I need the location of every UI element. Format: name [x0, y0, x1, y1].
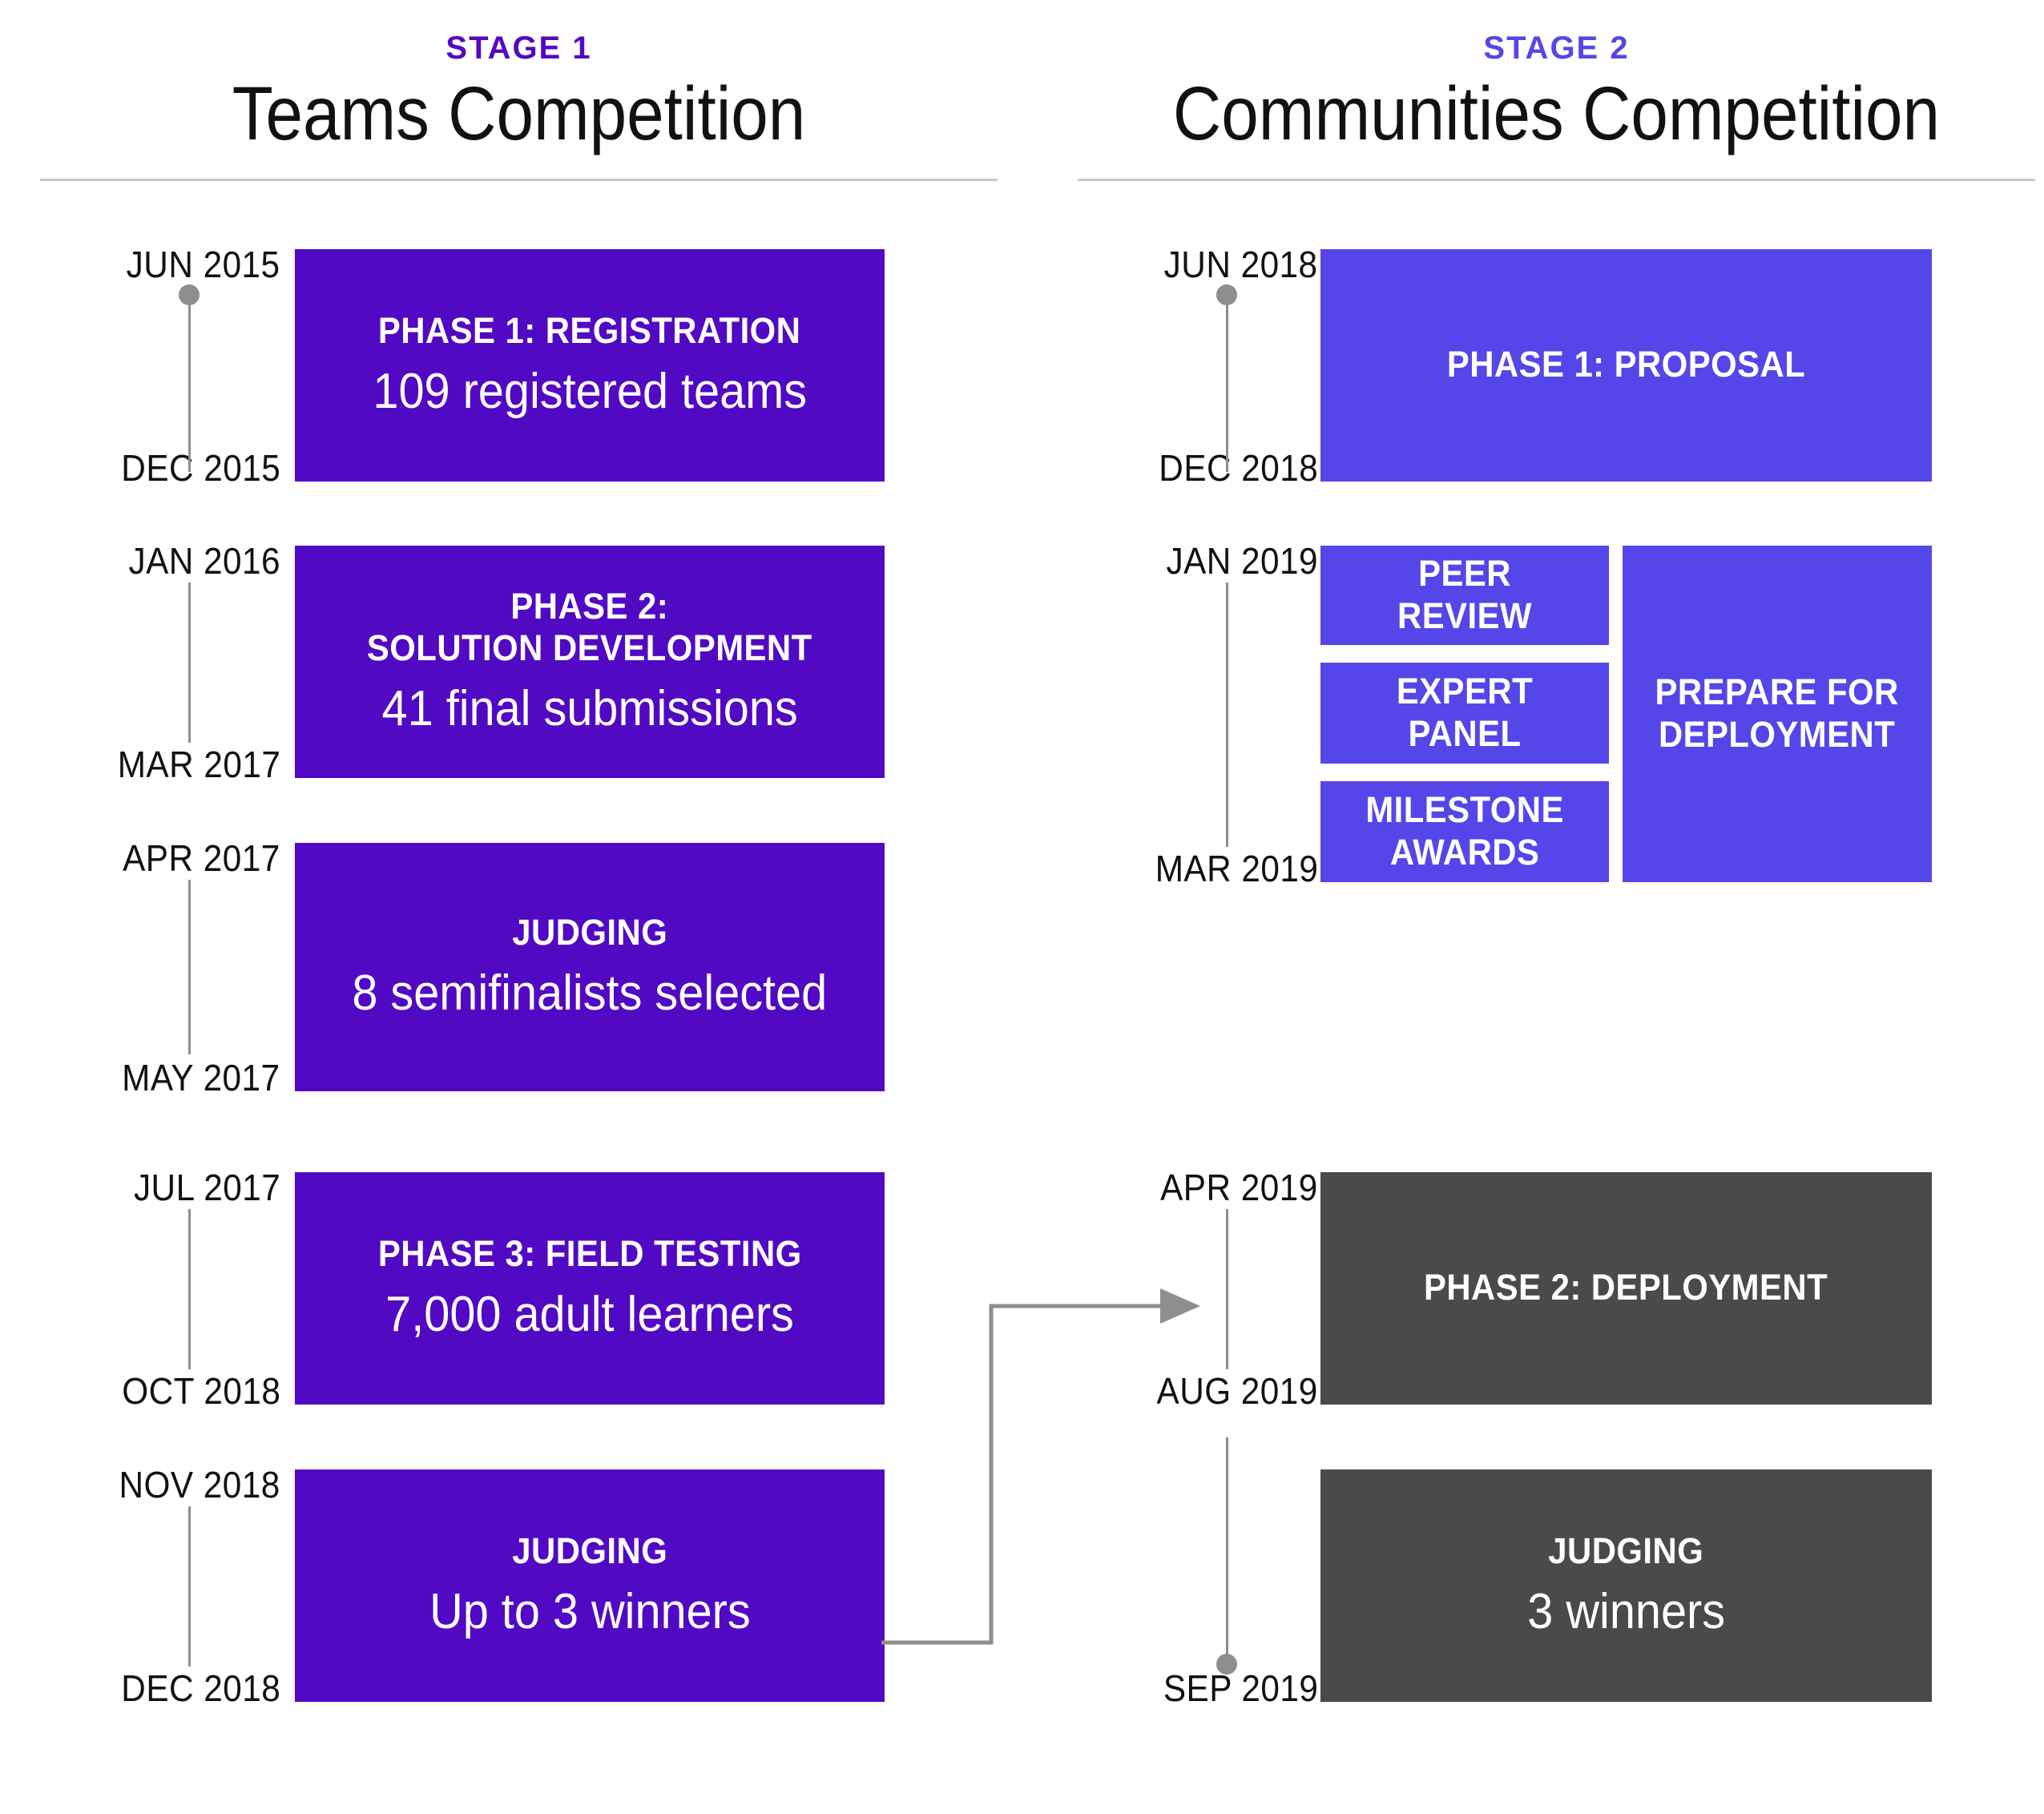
phase-box-title: PHASE 1: PROPOSAL — [1447, 344, 1805, 385]
timeline-line — [188, 880, 191, 1054]
phase-box-subtitle: 109 registered teams — [373, 363, 807, 420]
phase-box-title: JUDGING — [1549, 1530, 1704, 1572]
phase-box[interactable]: PHASE 1: REGISTRATION 109 registered tea… — [295, 249, 885, 482]
timeline-line — [188, 300, 191, 472]
timeline-dot — [1216, 1654, 1237, 1675]
date-gutter: JAN 2016 MAR 2017 — [40, 546, 280, 778]
phase-box-title: PHASE 1: REGISTRATION — [378, 310, 801, 352]
sub-phase-box[interactable]: PREPARE FOR DEPLOYMENT — [1623, 546, 1932, 882]
phase-box[interactable]: JUDGING 8 semifinalists selected — [295, 843, 885, 1091]
end-date-label: MAY 2017 — [123, 1056, 280, 1099]
start-date-label: JUN 2015 — [127, 243, 280, 286]
start-date-label: APR 2017 — [123, 836, 280, 880]
end-date-label: OCT 2018 — [122, 1369, 280, 1413]
phase-box[interactable]: PHASE 2: DEPLOYMENT — [1320, 1172, 1932, 1405]
timeline-row: JUN 2015 DEC 2015 PHASE 1: REGISTRATION … — [40, 249, 998, 482]
start-date-label: JUL 2017 — [134, 1166, 280, 1209]
sub-phase-box-title: EXPERT PANEL — [1350, 671, 1579, 754]
phase-box[interactable]: PHASE 1: PROPOSAL — [1320, 249, 1932, 482]
timeline-line — [1226, 1209, 1228, 1369]
sub-phase-box[interactable]: MILESTONE AWARDS — [1320, 781, 1609, 882]
date-gutter: SEP 2019 — [1078, 1469, 1318, 1702]
phase-box-subtitle: Up to 3 winners — [429, 1583, 751, 1640]
timeline-line — [188, 1506, 191, 1667]
timeline-line — [1226, 300, 1228, 472]
phase-box-subtitle: 7,000 adult learners — [385, 1286, 794, 1343]
end-date-label: DEC 2015 — [121, 446, 280, 490]
timeline-row: JAN 2016 MAR 2017 PHASE 2: SOLUTION DEVE… — [40, 546, 998, 778]
timeline-row: JUN 2018 DEC 2018 PHASE 1: PROPOSAL — [1078, 249, 2035, 482]
stage-1-divider — [40, 179, 998, 181]
phase-box[interactable]: PHASE 3: FIELD TESTING 7,000 adult learn… — [295, 1172, 885, 1405]
date-gutter: JUN 2018 DEC 2018 — [1078, 249, 1318, 482]
start-date-label: APR 2019 — [1160, 1166, 1318, 1209]
phase-box-subtitle: 8 semifinalists selected — [353, 965, 828, 1022]
sub-phase-box[interactable]: EXPERT PANEL — [1320, 663, 1609, 764]
timeline-line — [188, 1209, 191, 1369]
start-date-label: JAN 2019 — [1166, 539, 1318, 582]
end-date-label: AUG 2019 — [1157, 1369, 1318, 1413]
end-date-label: SEP 2019 — [1163, 1667, 1318, 1710]
start-date-label: JAN 2016 — [128, 539, 280, 582]
timeline-line — [1226, 1437, 1228, 1662]
end-date-label: MAR 2017 — [117, 743, 280, 786]
stage-2-divider — [1078, 179, 2035, 181]
sub-phase-box-title: MILESTONE AWARDS — [1365, 789, 1564, 873]
date-gutter: APR 2017 MAY 2017 — [40, 843, 280, 1091]
phase-box-subtitle: 41 final submissions — [381, 680, 797, 737]
timeline-line — [188, 582, 191, 743]
phase-box-title: JUDGING — [512, 1530, 667, 1572]
timeline-row-split: JAN 2019 MAR 2019 PEER REVIEW EXPERT PAN… — [1078, 546, 2035, 882]
phase-box[interactable]: JUDGING 3 winners — [1320, 1469, 1932, 1702]
timeline-line — [1226, 582, 1228, 847]
sub-phase-box[interactable]: PEER REVIEW — [1320, 546, 1609, 645]
sub-phase-box-title: PREPARE FOR DEPLOYMENT — [1655, 671, 1899, 755]
timeline-row: APR 2019 AUG 2019 PHASE 2: DEPLOYMENT — [1078, 1172, 2035, 1405]
date-gutter: NOV 2018 DEC 2018 — [40, 1469, 280, 1702]
stage-1-title: Teams Competition — [98, 72, 941, 156]
stage-1-label: STAGE 1 — [40, 32, 998, 64]
date-gutter: JAN 2019 MAR 2019 — [1078, 546, 1318, 882]
stage-2-label: STAGE 2 — [1078, 32, 2035, 64]
end-date-label: DEC 2018 — [121, 1667, 280, 1710]
timeline-row: JUL 2017 OCT 2018 PHASE 3: FIELD TESTING… — [40, 1172, 998, 1405]
timeline-row: APR 2017 MAY 2017 JUDGING 8 semifinalist… — [40, 843, 998, 1091]
phase-box-title: PHASE 2: DEPLOYMENT — [1424, 1267, 1828, 1308]
sub-phase-box-title: PEER REVIEW — [1350, 553, 1579, 636]
timeline-row: SEP 2019 JUDGING 3 winners — [1078, 1469, 2035, 1702]
end-date-label: DEC 2018 — [1159, 446, 1318, 490]
stage-2-column: STAGE 2 Communities Competition JUN 2018… — [1078, 0, 2035, 181]
start-date-label: JUN 2018 — [1164, 243, 1318, 286]
stage-1-column: STAGE 1 Teams Competition JUN 2015 DEC 2… — [40, 0, 998, 181]
phase-box-title: JUDGING — [512, 912, 667, 953]
start-date-label: NOV 2018 — [119, 1463, 280, 1506]
stage-2-title: Communities Competition — [1135, 72, 1978, 156]
phase-box-title: PHASE 3: FIELD TESTING — [378, 1233, 802, 1275]
end-date-label: MAR 2019 — [1155, 847, 1318, 890]
date-gutter: JUL 2017 OCT 2018 — [40, 1172, 280, 1405]
timeline-row: NOV 2018 DEC 2018 JUDGING Up to 3 winner… — [40, 1469, 998, 1702]
phase-box-subtitle: 3 winners — [1527, 1583, 1725, 1640]
phase-box[interactable]: JUDGING Up to 3 winners — [295, 1469, 885, 1702]
phase-box[interactable]: PHASE 2: SOLUTION DEVELOPMENT 41 final s… — [295, 546, 885, 778]
phase-box-title: PHASE 2: SOLUTION DEVELOPMENT — [367, 586, 812, 669]
date-gutter: APR 2019 AUG 2019 — [1078, 1172, 1318, 1405]
date-gutter: JUN 2015 DEC 2015 — [40, 249, 280, 482]
